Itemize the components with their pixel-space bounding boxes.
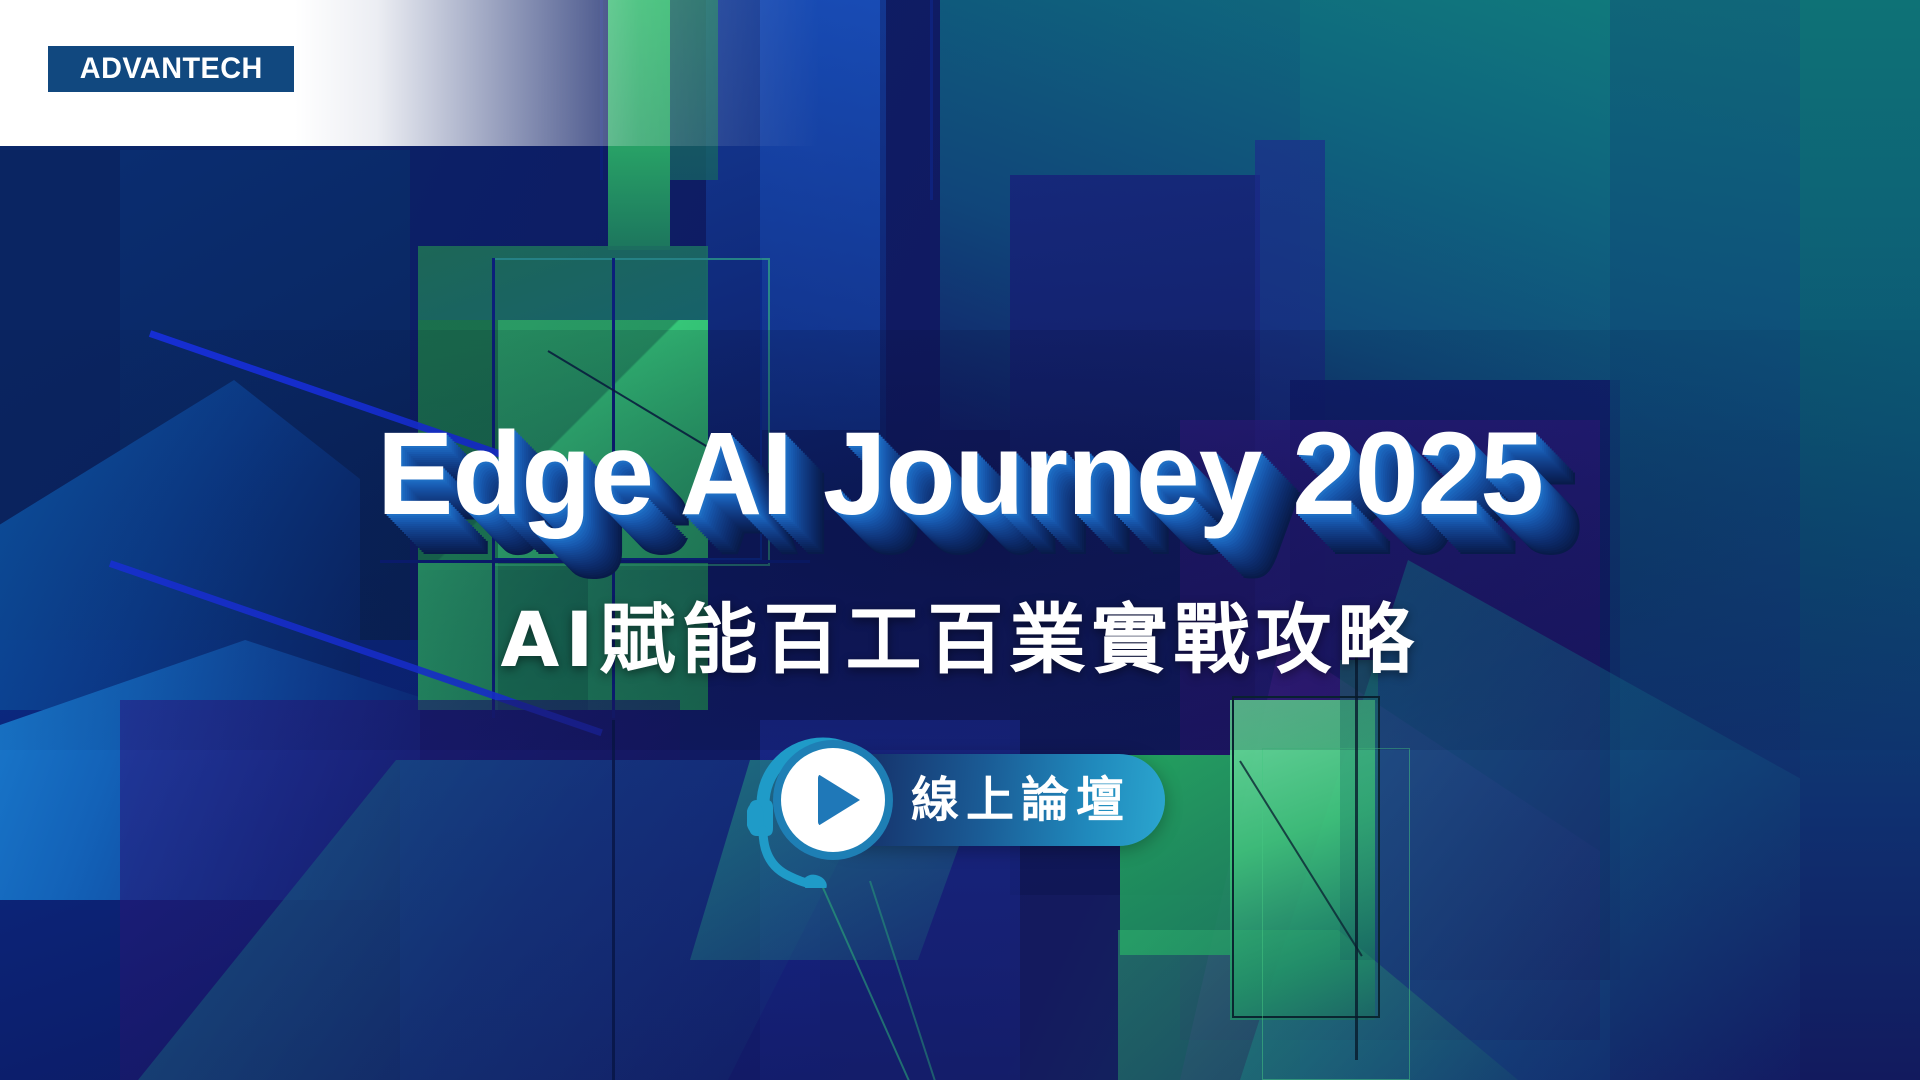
hero-content: Edge AI Journey 2025 AI賦能百工百業實戰攻略: [0, 0, 1920, 1080]
play-icon[interactable]: [781, 748, 885, 852]
online-forum-badge[interactable]: 線上論壇: [755, 740, 1165, 860]
online-forum-badge-wrap: 線上論壇: [0, 740, 1920, 860]
play-triangle-glyph: [818, 774, 860, 826]
event-banner: ADVANTECH Edge AI Journey 2025 AI賦能百工百業實…: [0, 0, 1920, 1080]
page-title: Edge AI Journey 2025: [29, 415, 1891, 533]
page-subtitle: AI賦能百工百業實戰攻略: [0, 598, 1920, 682]
online-forum-label: 線上論壇: [909, 776, 1131, 824]
